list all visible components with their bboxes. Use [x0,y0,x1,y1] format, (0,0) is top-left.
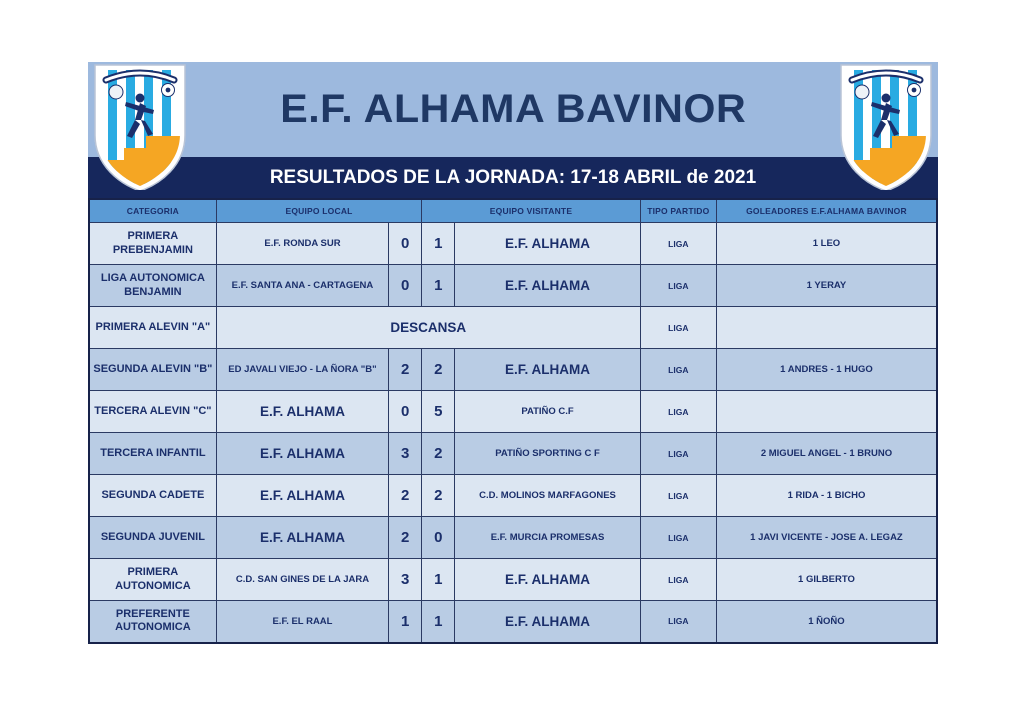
table-row: PREFERENTE AUTONOMICAE.F. EL RAAL11E.F. … [89,601,937,643]
results-table: CATEGORIA EQUIPO LOCAL EQUIPO VISITANTE … [88,198,938,644]
cell-score-visitante: 0 [422,517,455,559]
cell-descansa: DESCANSA [216,307,640,349]
cell-categoria: PRIMERA PREBENJAMIN [89,223,216,265]
cell-score-visitante: 2 [422,349,455,391]
table-row: TERCERA ALEVIN "C"E.F. ALHAMA05PATIÑO C.… [89,391,937,433]
cell-tipo-partido: LIGA [640,307,716,349]
cell-equipo-visitante: E.F. ALHAMA [455,223,640,265]
results-poster: E.F. ALHAMA BAVINOR RESULTADOS DE LA JOR… [88,62,938,642]
cell-goleadores: 1 JAVI VICENTE - JOSE A. LEGAZ [716,517,937,559]
cell-tipo-partido: LIGA [640,349,716,391]
cell-score-local: 2 [389,517,422,559]
page-title: E.F. ALHAMA BAVINOR [280,87,746,132]
cell-equipo-local: ED JAVALI VIEJO - LA ÑORA "B" [216,349,388,391]
table-row: PRIMERA PREBENJAMINE.F. RONDA SUR01E.F. … [89,223,937,265]
cell-score-local: 2 [389,349,422,391]
cell-goleadores: 1 RIDA - 1 BICHO [716,475,937,517]
cell-categoria: SEGUNDA ALEVIN "B" [89,349,216,391]
cell-score-visitante: 2 [422,433,455,475]
cell-categoria: SEGUNDA CADETE [89,475,216,517]
cell-categoria: SEGUNDA JUVENIL [89,517,216,559]
cell-score-local: 3 [389,559,422,601]
cell-score-visitante: 5 [422,391,455,433]
cell-score-local: 0 [389,391,422,433]
cell-categoria: TERCERA ALEVIN "C" [89,391,216,433]
column-header-goleadores: GOLEADORES E.F.ALHAMA BAVINOR [716,199,937,223]
cell-equipo-local: E.F. ALHAMA [216,475,388,517]
cell-categoria: PRIMERA ALEVIN "A" [89,307,216,349]
cell-score-visitante: 1 [422,559,455,601]
table-row: TERCERA INFANTILE.F. ALHAMA32PATIÑO SPOR… [89,433,937,475]
cell-equipo-visitante: C.D. MOLINOS MARFAGONES [455,475,640,517]
cell-score-local: 1 [389,601,422,643]
table-row: SEGUNDA CADETEE.F. ALHAMA22C.D. MOLINOS … [89,475,937,517]
cell-goleadores: 1 GILBERTO [716,559,937,601]
table-row: LIGA AUTONOMICA BENJAMINE.F. SANTA ANA -… [89,265,937,307]
poster-banner: E.F. ALHAMA BAVINOR [88,62,938,157]
cell-equipo-local: E.F. ALHAMA [216,517,388,559]
cell-equipo-visitante: PATIÑO C.F [455,391,640,433]
cell-tipo-partido: LIGA [640,391,716,433]
cell-score-local: 0 [389,265,422,307]
cell-score-local: 3 [389,433,422,475]
cell-score-visitante: 1 [422,265,455,307]
cell-goleadores: 1 ANDRES - 1 HUGO [716,349,937,391]
cell-categoria: PREFERENTE AUTONOMICA [89,601,216,643]
table-row: PRIMERA ALEVIN "A"DESCANSALIGA [89,307,937,349]
cell-goleadores: 1 ÑOÑO [716,601,937,643]
cell-equipo-visitante: PATIÑO SPORTING C F [455,433,640,475]
cell-equipo-local: E.F. RONDA SUR [216,223,388,265]
cell-score-local: 0 [389,223,422,265]
cell-score-visitante: 1 [422,223,455,265]
cell-equipo-visitante: E.F. ALHAMA [455,601,640,643]
cell-tipo-partido: LIGA [640,433,716,475]
cell-goleadores [716,307,937,349]
cell-equipo-visitante: E.F. ALHAMA [455,349,640,391]
table-row: SEGUNDA ALEVIN "B"ED JAVALI VIEJO - LA Ñ… [89,349,937,391]
cell-tipo-partido: LIGA [640,223,716,265]
table-row: PRIMERA AUTONOMICAC.D. SAN GINES DE LA J… [89,559,937,601]
cell-equipo-local: E.F. ALHAMA [216,433,388,475]
column-header-equipo-visitante: EQUIPO VISITANTE [422,199,641,223]
cell-tipo-partido: LIGA [640,601,716,643]
club-crest-right [840,64,932,190]
cell-categoria: TERCERA INFANTIL [89,433,216,475]
cell-tipo-partido: LIGA [640,265,716,307]
cell-tipo-partido: LIGA [640,559,716,601]
cell-tipo-partido: LIGA [640,475,716,517]
club-crest-left [94,64,186,190]
cell-goleadores: 2 MIGUEL ANGEL - 1 BRUNO [716,433,937,475]
table-header-row: CATEGORIA EQUIPO LOCAL EQUIPO VISITANTE … [89,199,937,223]
cell-equipo-visitante: E.F. ALHAMA [455,559,640,601]
matchday-subtitle: RESULTADOS DE LA JORNADA: 17-18 ABRIL de… [270,167,756,189]
column-header-categoria: CATEGORIA [89,199,216,223]
cell-equipo-local: E.F. SANTA ANA - CARTAGENA [216,265,388,307]
cell-equipo-local: E.F. EL RAAL [216,601,388,643]
column-header-tipo-partido: TIPO PARTIDO [640,199,716,223]
cell-score-local: 2 [389,475,422,517]
column-header-equipo-local: EQUIPO LOCAL [216,199,421,223]
cell-categoria: PRIMERA AUTONOMICA [89,559,216,601]
cell-tipo-partido: LIGA [640,517,716,559]
table-row: SEGUNDA JUVENILE.F. ALHAMA20E.F. MURCIA … [89,517,937,559]
cell-categoria: LIGA AUTONOMICA BENJAMIN [89,265,216,307]
cell-equipo-local: E.F. ALHAMA [216,391,388,433]
cell-equipo-local: C.D. SAN GINES DE LA JARA [216,559,388,601]
cell-goleadores: 1 YERAY [716,265,937,307]
cell-score-visitante: 2 [422,475,455,517]
matchday-subtitle-bar: RESULTADOS DE LA JORNADA: 17-18 ABRIL de… [88,157,938,198]
cell-goleadores [716,391,937,433]
cell-score-visitante: 1 [422,601,455,643]
cell-equipo-visitante: E.F. MURCIA PROMESAS [455,517,640,559]
cell-equipo-visitante: E.F. ALHAMA [455,265,640,307]
cell-goleadores: 1 LEO [716,223,937,265]
